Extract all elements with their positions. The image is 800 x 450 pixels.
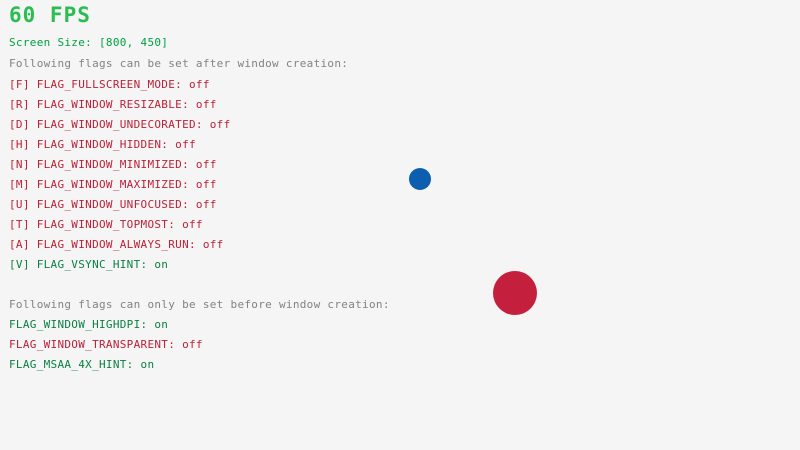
flag-row-flag-window-transparent[interactable]: FLAG_WINDOW_TRANSPARENT: off (9, 339, 203, 350)
runtime-flags-header: Following flags can be set after window … (9, 58, 348, 69)
flag-row-flag-window-maximized[interactable]: [M] FLAG_WINDOW_MAXIMIZED: off (9, 179, 217, 190)
precreation-flags-header: Following flags can only be set before w… (9, 299, 390, 310)
flag-row-flag-vsync-hint[interactable]: [V] FLAG_VSYNC_HINT: on (9, 259, 168, 270)
flag-row-flag-window-undecorated[interactable]: [D] FLAG_WINDOW_UNDECORATED: off (9, 119, 231, 130)
red-ball (493, 271, 537, 315)
flag-row-flag-window-minimized[interactable]: [N] FLAG_WINDOW_MINIMIZED: off (9, 159, 217, 170)
flag-row-flag-window-topmost[interactable]: [T] FLAG_WINDOW_TOPMOST: off (9, 219, 203, 230)
flag-row-flag-window-resizable[interactable]: [R] FLAG_WINDOW_RESIZABLE: off (9, 99, 217, 110)
flag-row-flag-msaa-4x-hint[interactable]: FLAG_MSAA_4X_HINT: on (9, 359, 154, 370)
flag-row-flag-window-hidden[interactable]: [H] FLAG_WINDOW_HIDDEN: off (9, 139, 196, 150)
screen-size-label: Screen Size: [800, 450] (9, 37, 168, 48)
flag-row-flag-fullscreen-mode[interactable]: [F] FLAG_FULLSCREEN_MODE: off (9, 79, 210, 90)
raylib-window-canvas: 60 FPS Screen Size: [800, 450] Following… (0, 0, 800, 450)
flag-row-flag-window-always-run[interactable]: [A] FLAG_WINDOW_ALWAYS_RUN: off (9, 239, 224, 250)
flag-row-flag-window-highdpi[interactable]: FLAG_WINDOW_HIGHDPI: on (9, 319, 168, 330)
flag-row-flag-window-unfocused[interactable]: [U] FLAG_WINDOW_UNFOCUSED: off (9, 199, 217, 210)
blue-ball (409, 168, 431, 190)
fps-counter: 60 FPS (9, 5, 91, 26)
